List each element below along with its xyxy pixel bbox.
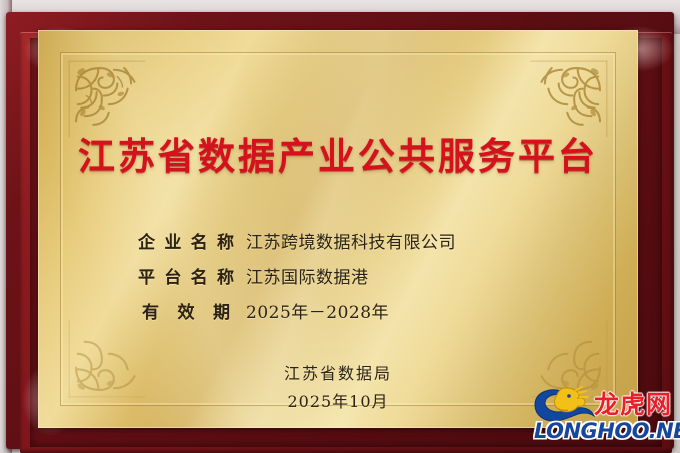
field-value-enterprise-name: 江苏跨境数据科技有限公司 <box>246 228 456 253</box>
gold-plate: 江苏省数据产业公共服务平台 企 业 名 称 江苏跨境数据科技有限公司 平 台 <box>38 30 638 428</box>
certificate-content: 江苏省数据产业公共服务平台 企 业 名 称 江苏跨境数据科技有限公司 平 台 <box>38 30 638 428</box>
watermark: 龙虎网 LONGHOO.NET <box>528 383 678 449</box>
label-char: 期 <box>213 298 230 323</box>
label-char: 称 <box>217 263 234 288</box>
label-char: 效 <box>178 298 195 323</box>
label-char: 名 <box>191 263 208 288</box>
field-platform-name: 平 台 名 称 江苏国际数据港 <box>138 263 456 287</box>
label-char: 平 <box>138 263 155 288</box>
certificate-plaque-image: 江苏省数据产业公共服务平台 企 业 名 称 江苏跨境数据科技有限公司 平 台 <box>0 0 680 453</box>
watermark-english-text: LONGHOO.NET <box>534 419 680 443</box>
field-label-enterprise-name: 企 业 名 称 <box>138 228 234 253</box>
certificate-fields: 企 业 名 称 江苏跨境数据科技有限公司 平 台 名 称 江苏国际数据港 <box>138 228 456 333</box>
label-char: 名 <box>191 228 208 253</box>
field-validity-period: 有 效 期 2025年－2028年 <box>138 298 456 322</box>
field-value-platform-name: 江苏国际数据港 <box>246 263 369 288</box>
label-char: 台 <box>164 263 181 288</box>
field-label-platform-name: 平 台 名 称 <box>138 263 234 288</box>
issuing-organization: 江苏省数据局 <box>38 360 638 384</box>
field-label-validity-period: 有 效 期 <box>138 298 234 323</box>
field-value-validity-period: 2025年－2028年 <box>246 298 389 323</box>
label-char: 企 <box>138 228 155 253</box>
field-enterprise-name: 企 业 名 称 江苏跨境数据科技有限公司 <box>138 228 456 252</box>
label-char: 称 <box>217 228 234 253</box>
certificate-title: 江苏省数据产业公共服务平台 <box>38 126 638 180</box>
label-char: 业 <box>164 228 181 253</box>
watermark-chinese-text: 龙虎网 <box>594 385 672 421</box>
label-char: 有 <box>142 298 159 323</box>
